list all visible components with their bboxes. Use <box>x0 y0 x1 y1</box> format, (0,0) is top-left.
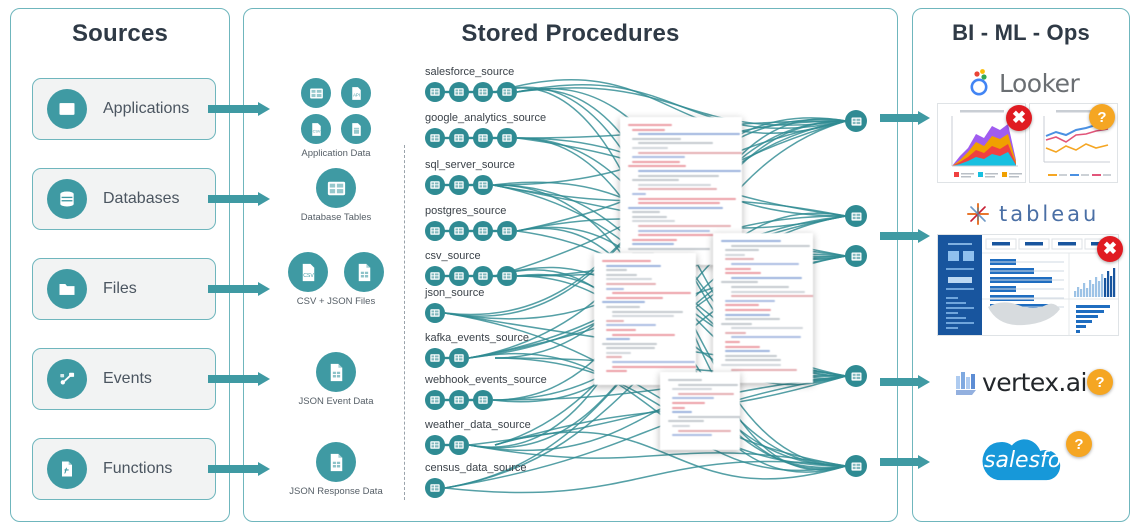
table-node-icon <box>500 224 514 238</box>
lineage-label-postgres-source: postgres_source <box>425 205 506 217</box>
table-node-icon <box>476 224 490 238</box>
lineage-node[interactable] <box>425 128 445 148</box>
table-node-icon <box>476 85 490 99</box>
lineage-node[interactable] <box>449 266 469 286</box>
diagram-canvas: Sources Stored Procedures BI - ML - Ops … <box>0 0 1140 530</box>
table-node-icon <box>428 131 442 145</box>
error-badge[interactable]: ✖ <box>1006 105 1032 131</box>
table-node-icon <box>500 269 514 283</box>
question-badge[interactable]: ? <box>1066 431 1092 457</box>
lineage-label-google-analytics-source: google_analytics_source <box>425 112 546 124</box>
table-node-icon <box>452 351 466 365</box>
table-node-icon <box>428 438 442 452</box>
lineage-output-node-0[interactable] <box>845 110 867 132</box>
lineage-node[interactable] <box>425 348 445 368</box>
table-node-icon <box>476 269 490 283</box>
table-node-icon <box>428 306 442 320</box>
error-badge[interactable]: ✖ <box>1097 236 1123 262</box>
lineage-node[interactable] <box>497 266 517 286</box>
question-badge[interactable]: ? <box>1087 369 1113 395</box>
table-node-icon <box>452 85 466 99</box>
vertex-mark-icon <box>954 369 980 397</box>
table-node-icon <box>428 393 442 407</box>
lineage-label-salesforce-source: salesforce_source <box>425 66 514 78</box>
lineage-label-json-source: json_source <box>425 287 484 299</box>
table-node-icon <box>428 224 442 238</box>
lineage-node[interactable] <box>473 175 493 195</box>
lineage-node[interactable] <box>425 266 445 286</box>
looker-mark-icon <box>968 68 994 98</box>
table-node-icon <box>849 249 864 264</box>
looker-wordmark: Looker <box>999 69 1079 98</box>
table-node-icon <box>428 481 442 495</box>
question-badge[interactable]: ? <box>1089 104 1115 130</box>
table-node-icon <box>428 269 442 283</box>
lineage-node[interactable] <box>473 266 493 286</box>
lineage-node[interactable] <box>473 221 493 241</box>
arrow-procs-to-bi-2 <box>880 375 928 389</box>
tableau-wordmark: tableau <box>999 202 1099 226</box>
table-node-icon <box>428 178 442 192</box>
table-node-icon <box>849 209 864 224</box>
arrow-procs-to-bi-3 <box>880 455 928 469</box>
lineage-output-node-1[interactable] <box>845 205 867 227</box>
table-node-icon <box>452 224 466 238</box>
table-node-icon <box>428 351 442 365</box>
table-node-icon <box>428 85 442 99</box>
lineage-node[interactable] <box>497 82 517 102</box>
lineage-label-csv-source: csv_source <box>425 250 481 262</box>
lineage-node[interactable] <box>425 175 445 195</box>
lineage-node[interactable] <box>425 478 445 498</box>
table-node-icon <box>476 131 490 145</box>
vertex-ai-logo: vertex.ai <box>954 368 1087 397</box>
sql-code-card-2 <box>713 233 813 383</box>
lineage-label-kafka-events-source: kafka_events_source <box>425 332 529 344</box>
tableau-logo: tableau <box>963 199 1099 229</box>
table-node-icon <box>849 459 864 474</box>
looker-logo: Looker <box>968 68 1079 98</box>
lineage-node[interactable] <box>449 348 469 368</box>
lineage-node[interactable] <box>449 128 469 148</box>
lineage-output-node-2[interactable] <box>845 245 867 267</box>
table-node-icon <box>476 178 490 192</box>
table-node-icon <box>500 131 514 145</box>
lineage-node[interactable] <box>425 435 445 455</box>
arrow-procs-to-bi-1 <box>880 229 928 243</box>
lineage-node[interactable] <box>473 128 493 148</box>
table-node-icon <box>500 85 514 99</box>
lineage-node[interactable] <box>449 435 469 455</box>
lineage-label-weather-data-source: weather_data_source <box>425 419 531 431</box>
lineage-output-node-4[interactable] <box>845 455 867 477</box>
table-node-icon <box>452 393 466 407</box>
lineage-node[interactable] <box>473 82 493 102</box>
lineage-node[interactable] <box>449 175 469 195</box>
lineage-node[interactable] <box>497 221 517 241</box>
table-node-icon <box>452 269 466 283</box>
lineage-node[interactable] <box>425 390 445 410</box>
vertex-wordmark: vertex.ai <box>982 368 1087 397</box>
table-node-icon <box>849 369 864 384</box>
lineage-output-node-3[interactable] <box>845 365 867 387</box>
lineage-label-sql-server-source: sql_server_source <box>425 159 515 171</box>
lineage-node[interactable] <box>425 303 445 323</box>
lineage-node[interactable] <box>497 128 517 148</box>
table-node-icon <box>452 131 466 145</box>
lineage-node[interactable] <box>449 221 469 241</box>
tableau-dashboard-thumbnail[interactable] <box>937 234 1119 336</box>
tableau-mark-icon <box>963 199 993 229</box>
table-node-icon <box>849 114 864 129</box>
table-node-icon <box>452 178 466 192</box>
lineage-node[interactable] <box>425 221 445 241</box>
lineage-label-census-data-source: census_data_source <box>425 462 527 474</box>
lineage-node[interactable] <box>449 82 469 102</box>
sql-code-card-3 <box>660 372 740 450</box>
lineage-label-webhook-events-source: webhook_events_source <box>425 374 547 386</box>
arrow-procs-to-bi-0 <box>880 111 928 125</box>
sql-code-card-1 <box>594 253 696 385</box>
lineage-node[interactable] <box>425 82 445 102</box>
lineage-node[interactable] <box>449 390 469 410</box>
table-node-icon <box>452 438 466 452</box>
table-node-icon <box>476 393 490 407</box>
lineage-node[interactable] <box>473 390 493 410</box>
